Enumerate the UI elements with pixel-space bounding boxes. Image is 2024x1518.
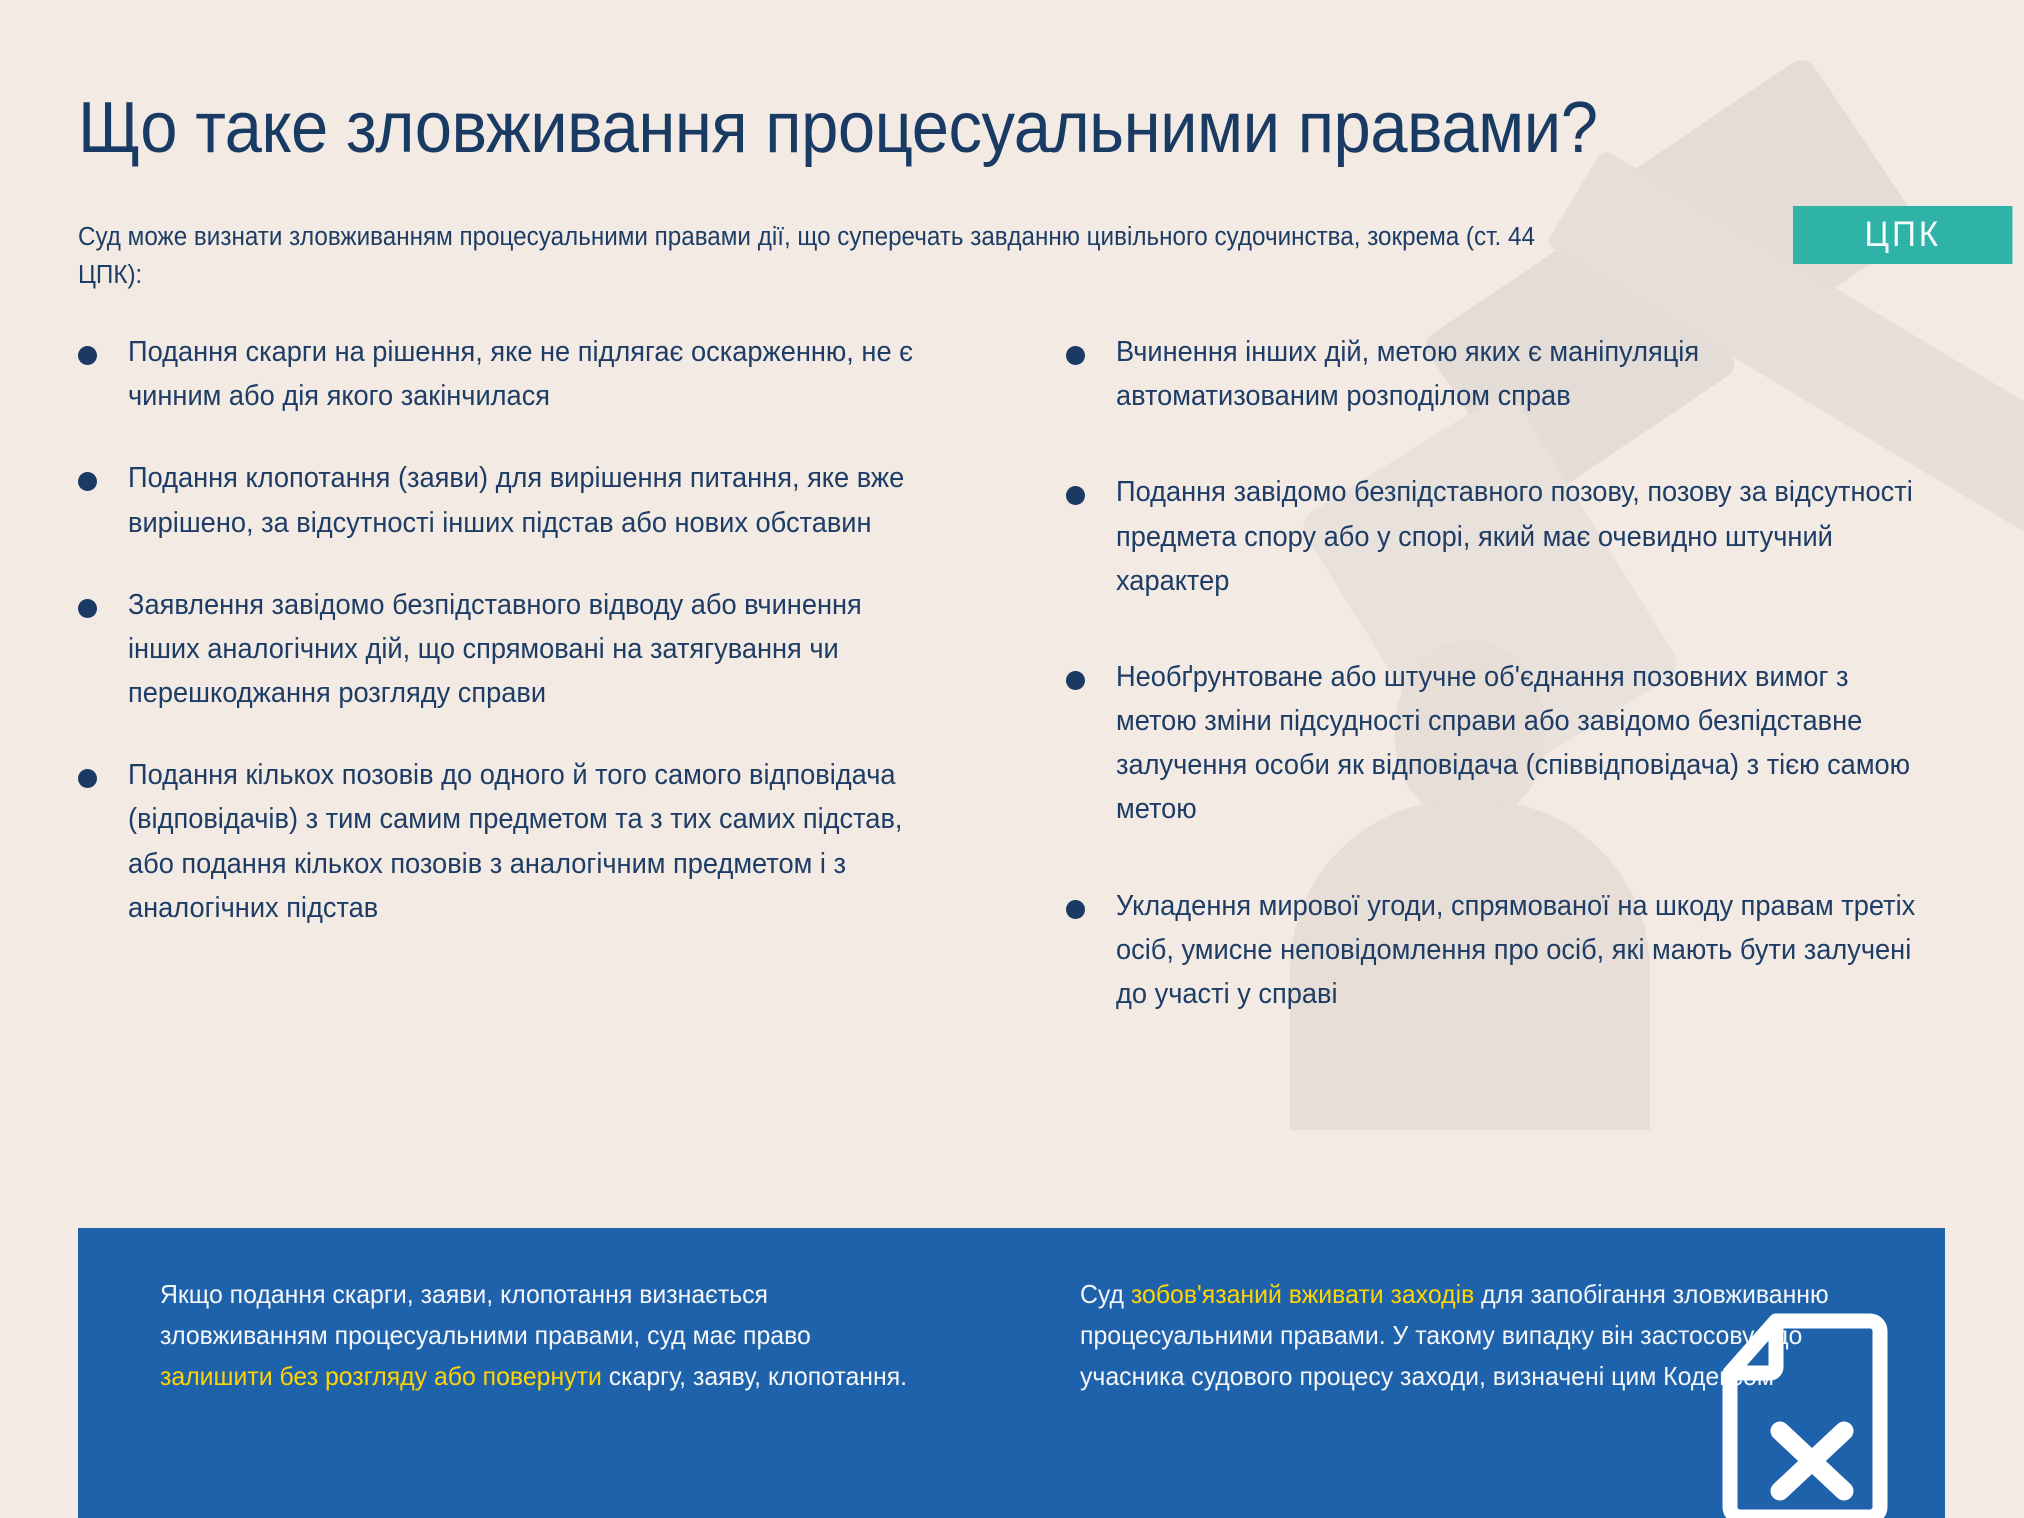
cpk-badge: ЦПК [1793, 206, 2012, 264]
footer-left-part2: скаргу, заяву, клопотання. [602, 1361, 907, 1391]
footer-right-part1: Суд [1080, 1279, 1131, 1309]
bullet-dot-icon [1066, 486, 1085, 505]
list-item-text: Необґрунтоване або штучне об'єднання поз… [1116, 655, 1920, 832]
list-item-text: Вчинення інших дій, метою яких є маніпул… [1116, 330, 1920, 418]
footer-left-part1: Якщо подання скарги, заяви, клопотання в… [160, 1279, 811, 1350]
list-item: Подання клопотання (заяви) для вирішення… [78, 456, 970, 544]
list-item: Заявлення завідомо безпідставного відвод… [78, 583, 970, 716]
list-item-text: Подання завідомо безпідставного позову, … [1116, 470, 1920, 603]
bullet-dot-icon [1066, 346, 1085, 365]
footer-left-highlight: залишити без розгляду або повернути [160, 1361, 602, 1391]
bullet-column-right: Вчинення інших дій, метою яких є маніпул… [1066, 330, 1958, 1068]
list-item-text: Подання клопотання (заяви) для вирішення… [128, 456, 932, 544]
footer-panel: Якщо подання скарги, заяви, клопотання в… [78, 1228, 1945, 1518]
footer-right-highlight: зобов'язаний вживати заходів [1131, 1279, 1474, 1309]
footer-note-left: Якщо подання скарги, заяви, клопотання в… [160, 1274, 914, 1518]
bullet-dot-icon [78, 769, 97, 788]
bullet-dot-icon [78, 472, 97, 491]
bullet-columns: Подання скарги на рішення, яке не підляг… [78, 330, 1958, 1068]
bullet-dot-icon [1066, 671, 1085, 690]
list-item: Необґрунтоване або штучне об'єднання поз… [1066, 655, 1958, 832]
list-item: Укладення мирової угоди, спрямованої на … [1066, 884, 1958, 1017]
page-title: Що таке зловживання процесуальними права… [78, 90, 1780, 168]
list-item-text: Подання кількох позовів до одного й того… [128, 753, 932, 930]
list-item: Подання кількох позовів до одного й того… [78, 753, 970, 930]
list-item: Подання скарги на рішення, яке не підляг… [78, 330, 970, 418]
list-item: Вчинення інших дій, метою яких є маніпул… [1066, 330, 1958, 418]
list-item-text: Подання скарги на рішення, яке не підляг… [128, 330, 932, 418]
list-item: Подання завідомо безпідставного позову, … [1066, 470, 1958, 603]
list-item-text: Укладення мирової угоди, спрямованої на … [1116, 884, 1920, 1017]
infographic-page: Що таке зловживання процесуальними права… [0, 0, 2024, 1518]
bullet-column-left: Подання скарги на рішення, яке не підляг… [78, 330, 970, 1068]
bullet-dot-icon [78, 346, 97, 365]
bullet-dot-icon [78, 599, 97, 618]
document-x-icon [1718, 1311, 1893, 1518]
bullet-dot-icon [1066, 900, 1085, 919]
intro-paragraph: Суд може визнати зловживанням процесуаль… [78, 218, 1546, 296]
list-item-text: Заявлення завідомо безпідставного відвод… [128, 583, 932, 716]
